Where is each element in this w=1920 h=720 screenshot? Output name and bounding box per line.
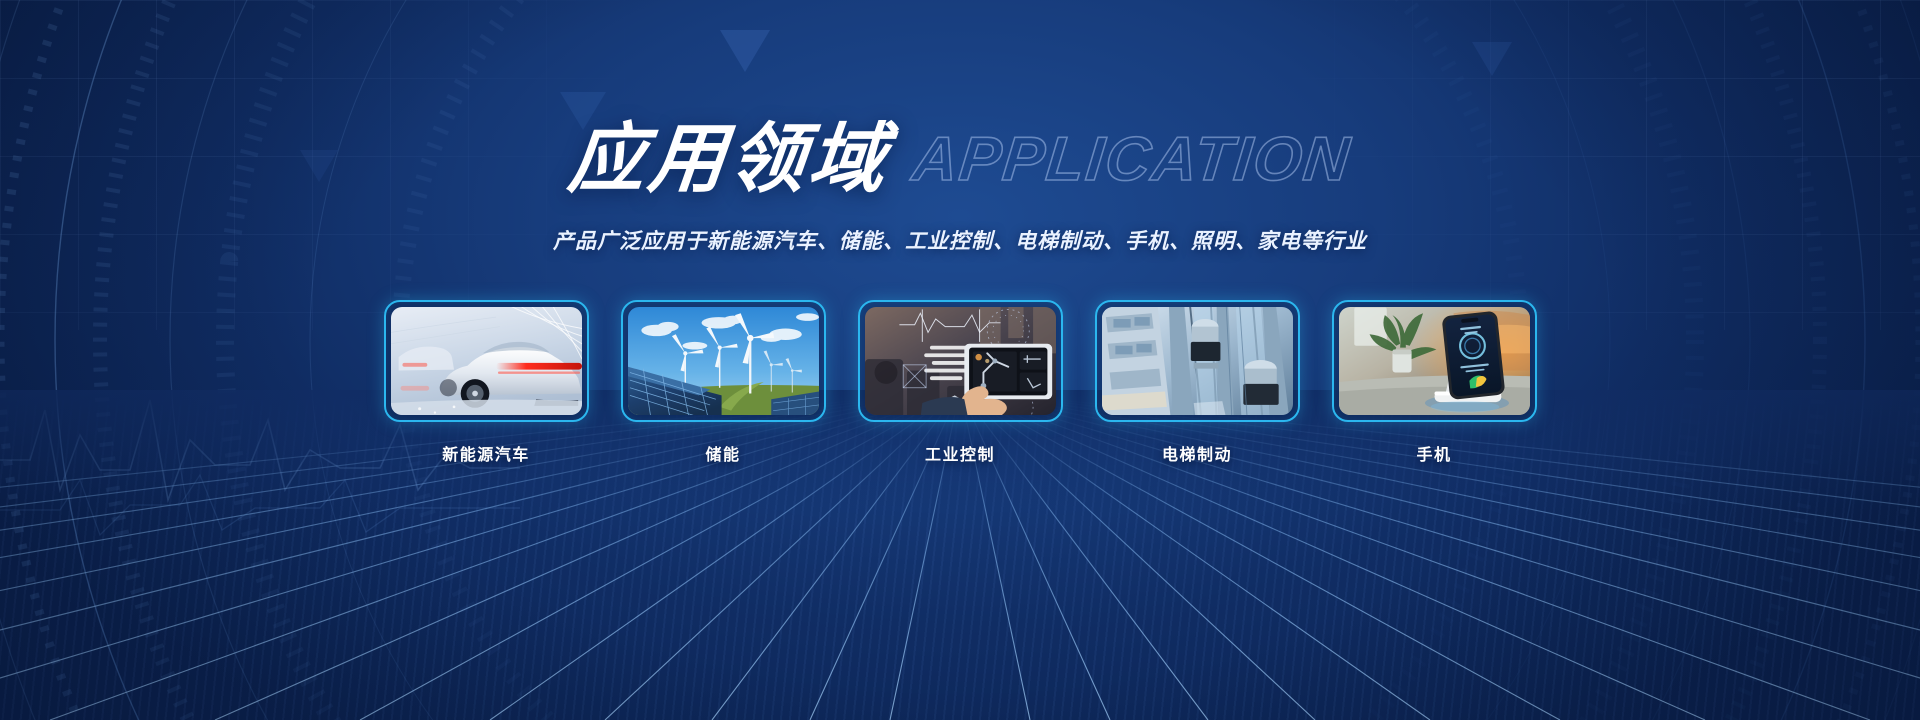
card-frame [621,300,826,422]
application-card-list: 新能源汽车 [0,300,1920,465]
card-label: 手机 [1416,441,1451,465]
card-thumbnail-phone-charger [1339,307,1530,415]
card-frame [1095,300,1300,422]
card-frame [858,300,1063,422]
page-title-en: APPLICATION [910,129,1354,191]
application-card-new-energy-vehicle[interactable]: 新能源汽车 [384,300,589,465]
banner-subtitle: 产品广泛应用于新能源汽车、储能、工业控制、电梯制动、手机、照明、家电等行业 [0,225,1920,255]
page-title-cn: 应用领域 [565,122,893,198]
card-thumbnail-elevator [1102,307,1293,415]
application-card-mobile-phone[interactable]: 手机 [1332,300,1537,465]
card-label: 储能 [705,441,740,465]
card-thumbnail-solar-wind [628,307,819,415]
application-card-industrial-control[interactable]: 工业控制 [858,300,1063,465]
application-card-energy-storage[interactable]: 储能 [621,300,826,465]
card-frame [384,300,589,422]
card-label: 新能源汽车 [442,441,530,465]
card-frame [1332,300,1537,422]
application-card-elevator-braking[interactable]: 电梯制动 [1095,300,1300,465]
card-thumbnail-industrial [865,307,1056,415]
card-label: 工业控制 [925,441,995,465]
banner-heading: 应用领域 APPLICATION [0,122,1920,198]
card-thumbnail-car [391,307,582,415]
card-label: 电梯制动 [1162,441,1232,465]
application-banner: 应用领域 APPLICATION 产品广泛应用于新能源汽车、储能、工业控制、电梯… [0,0,1920,720]
